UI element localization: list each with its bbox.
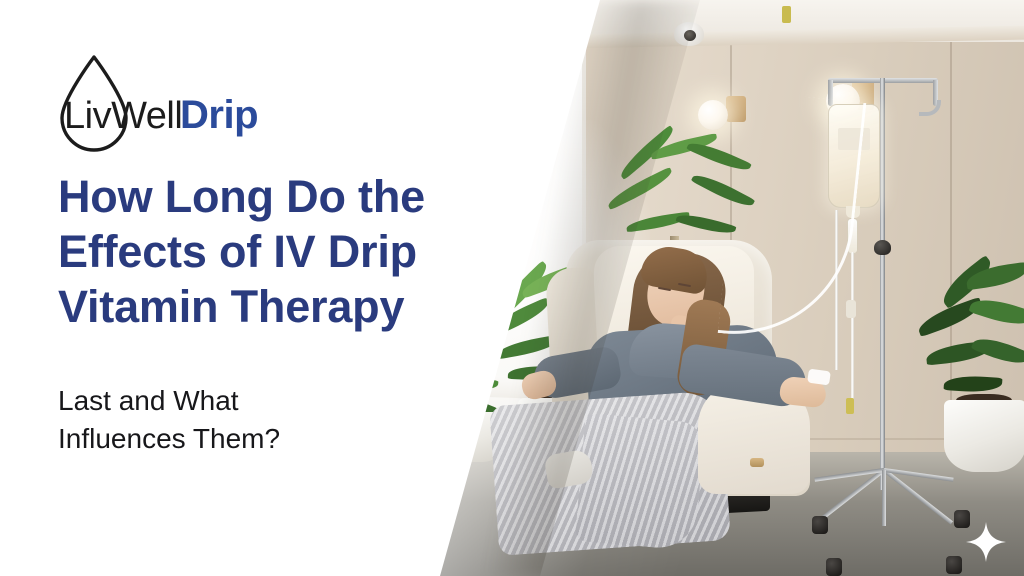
brand-logo[interactable]: LivWell Drip [58,52,318,160]
headline-line: Vitamin Therapy [58,281,404,332]
sparkle-icon [966,522,1006,562]
page-subtitle: Last and What Influences Them? [58,382,458,458]
svg-text:LivWell: LivWell [64,95,182,137]
page-title: How Long Do the Effects of IV Drip Vitam… [58,170,498,335]
hero-banner: LivWell Drip How Long Do the Effects of … [0,0,1024,576]
headline-line: Effects of IV Drip [58,226,417,277]
svg-text:Drip: Drip [180,93,258,137]
subheadline-line: Last and What [58,385,239,416]
subheadline-line: Influences Them? [58,423,280,454]
text-panel: LivWell Drip How Long Do the Effects of … [0,0,1024,576]
headline-line: How Long Do the [58,171,425,222]
